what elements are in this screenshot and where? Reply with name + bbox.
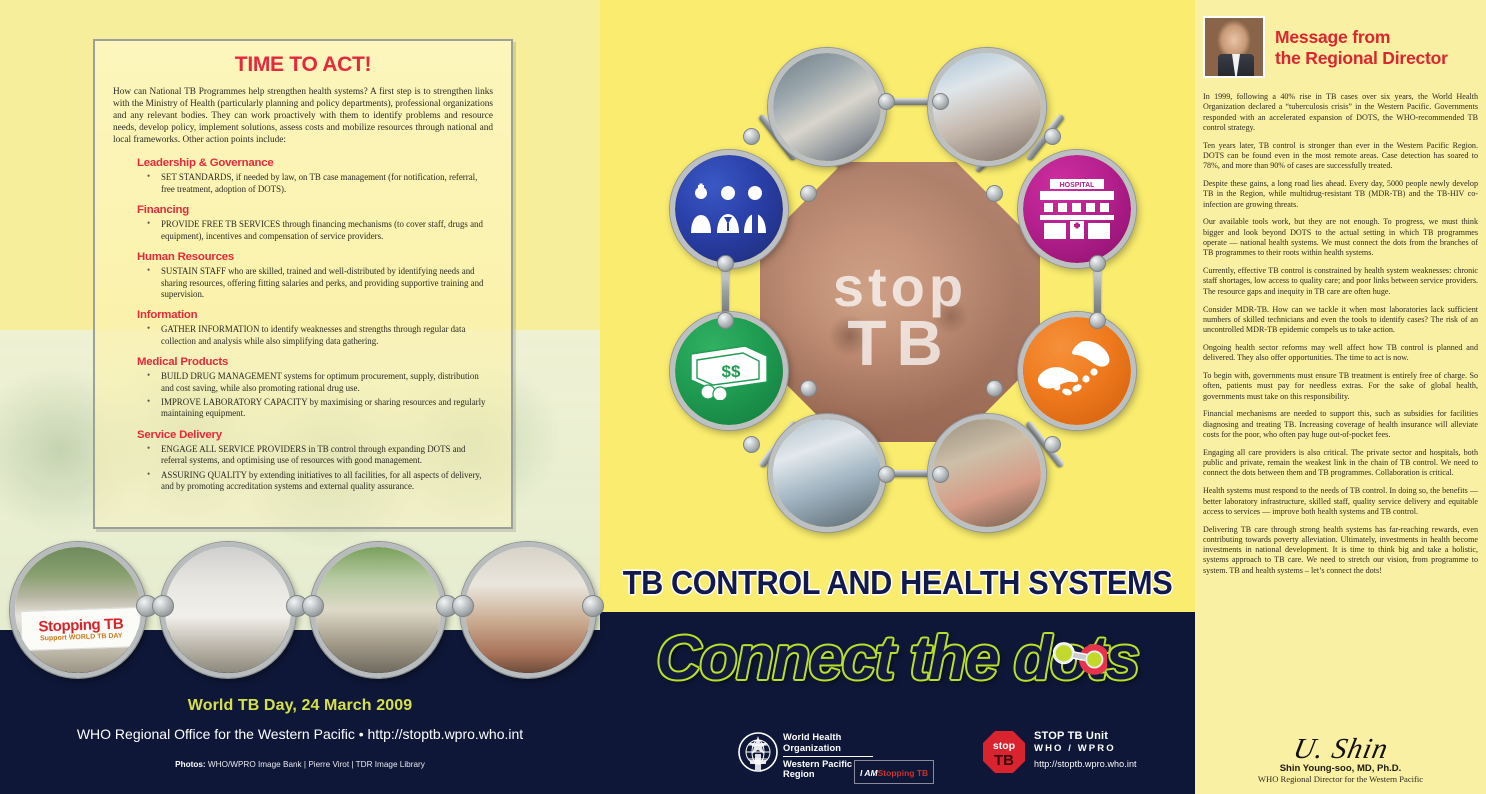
svg-text:$$: $$ — [722, 362, 741, 381]
section-information: Information GATHER INFORMATION to identi… — [113, 309, 493, 347]
stop-tb-unit-url[interactable]: http://stoptb.wpro.who.int — [1034, 759, 1137, 769]
stoptb-mark-line-1: stop — [993, 740, 1015, 752]
photo-circle-nurse-and-patient — [460, 542, 596, 678]
message-paragraph: Health systems must respond to the needs… — [1203, 486, 1478, 517]
stop-tb-unit-block: stop TB STOP TB Unit WHO / WPRO http://s… — [982, 730, 1137, 774]
photo-credits-value: WHO/WPRO Image Bank | Pierre Virot | TDR… — [206, 760, 425, 769]
central-children-photo-octagon — [760, 162, 1040, 442]
banner-sub-text: Support WORLD TB DAY — [40, 633, 123, 643]
node-laboratory-photo — [768, 48, 886, 166]
section-heading: Information — [137, 309, 493, 321]
connect-the-dots-logo-icon — [1053, 632, 1107, 678]
time-to-act-intro: How can National TB Programmes help stre… — [113, 86, 493, 146]
section-medical-products: Medical Products BUILD DRUG MANAGEMENT s… — [113, 356, 493, 420]
message-paragraph: Our available tools work, but they are n… — [1203, 217, 1478, 258]
main-title: TB CONTROL AND HEALTH SYSTEMS — [621, 564, 1174, 602]
section-bullet: SUSTAIN STAFF who are skilled, trained a… — [147, 266, 493, 300]
hospital-sign-label: HOSPITAL — [1060, 182, 1096, 189]
iam-suffix: Stopping TB — [878, 768, 929, 778]
section-human-resources: Human Resources SUSTAIN STAFF who are sk… — [113, 251, 493, 300]
stopping-tb-banner: Stopping TB Support WORLD TB DAY — [20, 607, 141, 651]
message-paragraph: In 1999, following a 40% rise in TB case… — [1203, 92, 1478, 133]
section-bullet: ENGAGE ALL SERVICE PROVIDERS in TB contr… — [147, 444, 493, 467]
photo-credits: Photos: WHO/WPRO Image Bank | Pierre Vir… — [0, 760, 600, 769]
hospital-building-icon: HOSPITAL — [1038, 179, 1116, 239]
section-heading: Medical Products — [137, 356, 493, 368]
section-heading: Leadership & Governance — [137, 157, 493, 169]
message-title-line-1: Message from — [1275, 27, 1448, 48]
i-am-stopping-tb-badge: I AMStopping TB — [854, 760, 934, 784]
section-heading: Human Resources — [137, 251, 493, 263]
regional-director-title: Message from the Regional Director — [1275, 16, 1448, 78]
message-paragraph: Currently, effective TB control is const… — [1203, 266, 1478, 297]
connector-bolt-icon — [302, 595, 324, 617]
hands-pills-icon — [1037, 340, 1117, 402]
world-tb-day-heading: World TB Day, 24 March 2009 — [0, 697, 600, 715]
stop-tb-unit-subtitle: WHO / WPRO — [1034, 743, 1137, 754]
who-name-line-2: Organization — [783, 743, 873, 754]
photo-circle-health-workers-lab — [160, 542, 296, 678]
photo-circle-patients-waiting — [310, 542, 446, 678]
connector-bolt-icon — [582, 595, 604, 617]
section-heading: Service Delivery — [137, 429, 493, 441]
section-financing: Financing PROVIDE FREE TB SERVICES throu… — [113, 204, 493, 242]
signature-role: WHO Regional Director for the Western Pa… — [1203, 774, 1478, 784]
regional-director-portrait — [1203, 16, 1265, 78]
node-hospital: HOSPITAL — [1018, 150, 1136, 268]
photo-credits-label: Photos: — [175, 760, 205, 769]
message-paragraph: Ongoing health sector reforms may well a… — [1203, 343, 1478, 364]
stop-tb-unit-title: STOP TB Unit — [1034, 730, 1137, 742]
node-human-resources — [670, 150, 788, 268]
regional-director-header: Message from the Regional Director — [1203, 16, 1478, 78]
who-emblem-icon — [738, 732, 778, 772]
node-medicines — [1018, 312, 1136, 430]
regional-director-signature-block: U. Shin Shin Young-soo, MD, Ph.D. WHO Re… — [1203, 736, 1478, 784]
health-workers-icon — [688, 183, 770, 235]
handwritten-signature-icon: U. Shin — [1291, 736, 1391, 762]
poster-canvas: TIME TO ACT! How can National TB Program… — [0, 0, 1486, 794]
section-leadership-governance: Leadership & Governance SET STANDARDS, i… — [113, 157, 493, 195]
connect-the-dots-diagram: stop TB HO — [630, 42, 1170, 552]
stop-tb-octagon-logo-icon: stop TB — [982, 730, 1026, 774]
regional-director-message-body: In 1999, following a 40% rise in TB case… — [1203, 92, 1478, 584]
section-bullet: SET STANDARDS, if needed by law, on TB c… — [147, 172, 493, 195]
section-bullet: IMPROVE LABORATORY CAPACITY by maximisin… — [147, 397, 493, 420]
section-bullet: GATHER INFORMATION to identify weaknesse… — [147, 324, 493, 347]
section-heading: Financing — [137, 204, 493, 216]
iam-prefix: I AM — [860, 768, 878, 778]
who-regional-office-line: WHO Regional Office for the Western Paci… — [0, 726, 600, 742]
tagline-block: Connect the dots — [600, 618, 1195, 698]
message-paragraph: Ten years later, TB control is stronger … — [1203, 141, 1478, 172]
section-service-delivery: Service Delivery ENGAGE ALL SERVICE PROV… — [113, 429, 493, 493]
left-photo-strip: Stopping TB Support WORLD TB DAY — [8, 538, 588, 688]
message-paragraph: Financial mechanisms are needed to suppo… — [1203, 409, 1478, 440]
time-to-act-title: TIME TO ACT! — [113, 53, 493, 77]
message-title-line-2: the Regional Director — [1275, 48, 1448, 69]
node-pharmacy-photo — [768, 414, 886, 532]
connector-bolt-icon — [152, 595, 174, 617]
section-bullet: ASSURING QUALITY by extending initiative… — [147, 470, 493, 493]
photo-circle-world-tb-day-march: Stopping TB Support WORLD TB DAY — [10, 542, 146, 678]
connector-bolt-icon — [452, 595, 474, 617]
who-name-line-1: World Health — [783, 732, 873, 743]
section-bullet: PROVIDE FREE TB SERVICES through financi… — [147, 219, 493, 242]
section-bullet: BUILD DRUG MANAGEMENT systems for optimu… — [147, 371, 493, 394]
money-banknotes-icon: $$ — [687, 342, 771, 400]
node-financing: $$ — [670, 312, 788, 430]
message-paragraph: To begin with, governments must ensure T… — [1203, 371, 1478, 402]
footer-logo-row: World Health Organization Western Pacifi… — [600, 728, 1195, 788]
time-to-act-box: TIME TO ACT! How can National TB Program… — [93, 39, 513, 529]
who-logo: World Health Organization Western Pacifi… — [738, 732, 873, 779]
message-paragraph: Consider MDR-TB. How can we tackle it wh… — [1203, 305, 1478, 336]
message-paragraph: Delivering TB care through strong health… — [1203, 525, 1478, 576]
stoptb-mark-line-2: TB — [994, 752, 1014, 769]
message-paragraph: Despite these gains, a long road lies ah… — [1203, 179, 1478, 210]
message-paragraph: Engaging all care providers is also crit… — [1203, 448, 1478, 479]
